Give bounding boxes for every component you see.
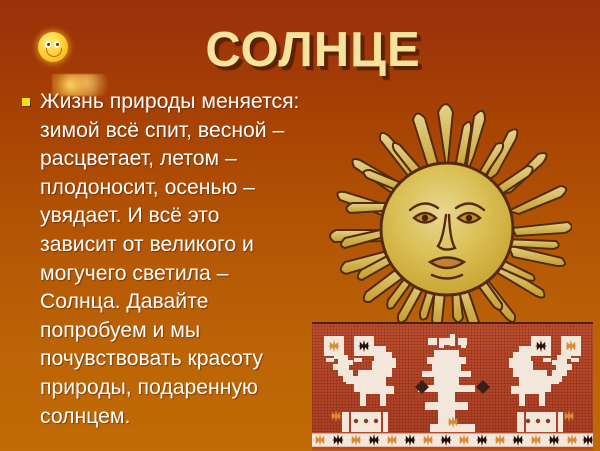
page-title: СОЛНЦЕ [0,22,600,78]
square-bullet-icon [22,98,30,106]
glitter-sun-face-illustration [322,82,572,326]
russian-folk-embroidery-horses-and-goddess [312,322,593,450]
body-text: Жизнь природы меняется: зимой всё спит, … [40,88,308,431]
presentation-slide: СОЛНЦЕ Жизнь природы меняется: зимой всё… [0,0,600,451]
bullet-paragraph: Жизнь природы меняется: зимой всё спит, … [22,88,312,431]
